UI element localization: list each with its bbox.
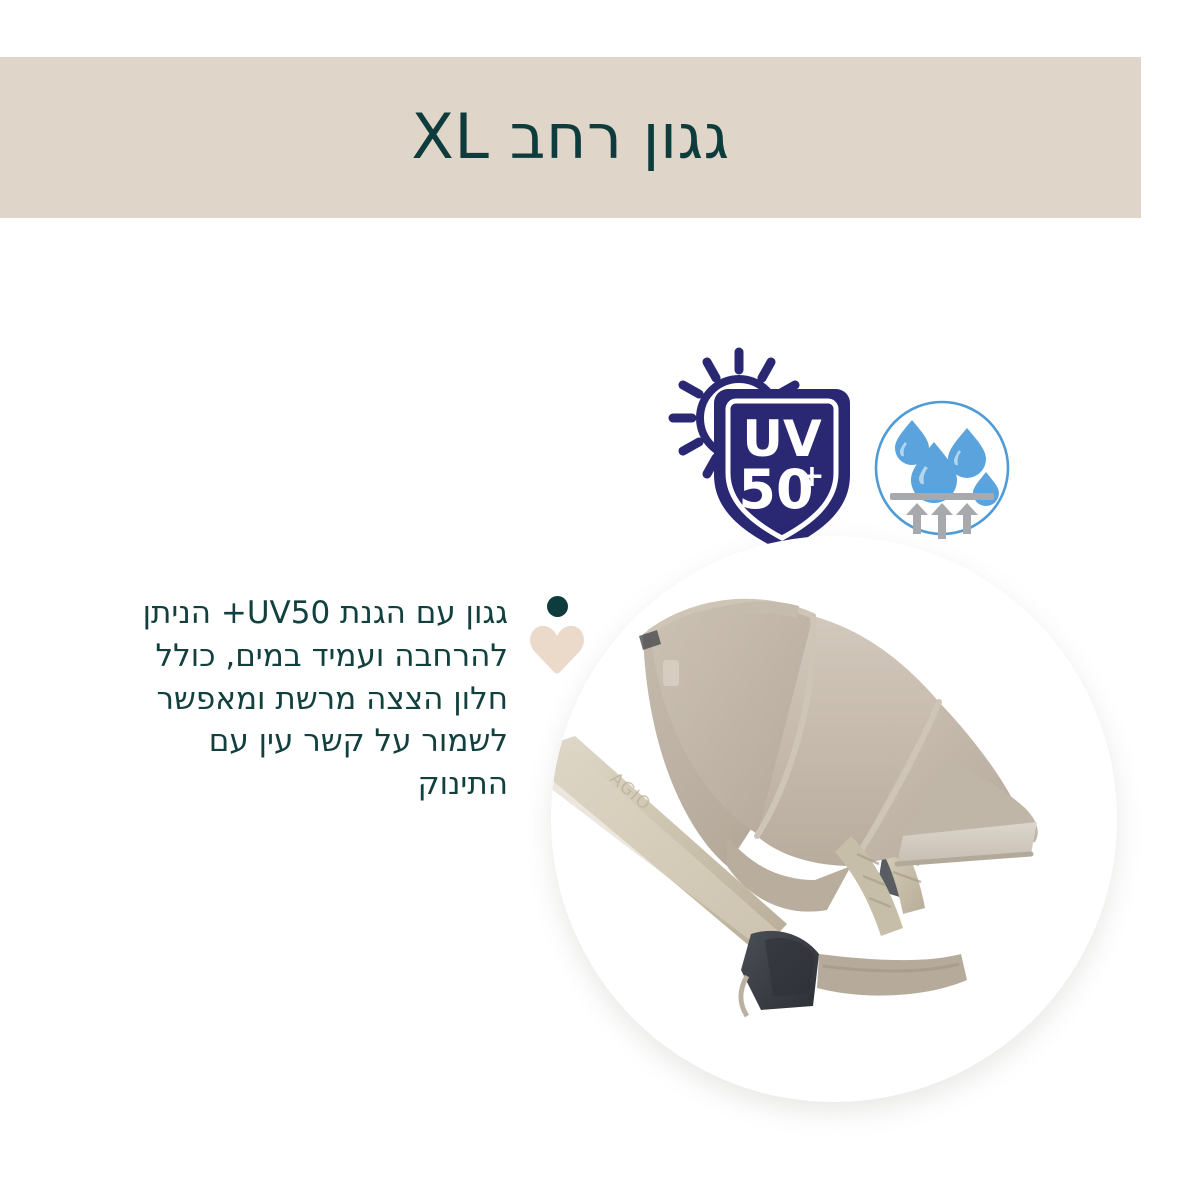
baby-head-dot <box>547 596 568 617</box>
heart-shape-icon <box>528 622 586 674</box>
baby-heart-icon <box>526 596 588 674</box>
surface-bar <box>890 493 994 500</box>
water-resistant-badge <box>872 392 1012 544</box>
feature-description: גגון עם הגנת UV50+ הניתן להרחבה ועמיד במ… <box>118 592 588 806</box>
uv-plus-label: + <box>799 459 824 494</box>
page-title: גגון רחב XL <box>411 103 729 171</box>
uv50-badge: UV 50 + <box>664 344 864 558</box>
header-band: גגון רחב XL <box>0 57 1141 218</box>
product-photo-circle: AGIO <box>551 536 1117 1102</box>
up-arrows-icon <box>906 503 978 539</box>
canopy-brand-tag <box>663 660 679 686</box>
feature-description-text: גגון עם הגנת UV50+ הניתן להרחבה ועמיד במ… <box>118 592 508 806</box>
